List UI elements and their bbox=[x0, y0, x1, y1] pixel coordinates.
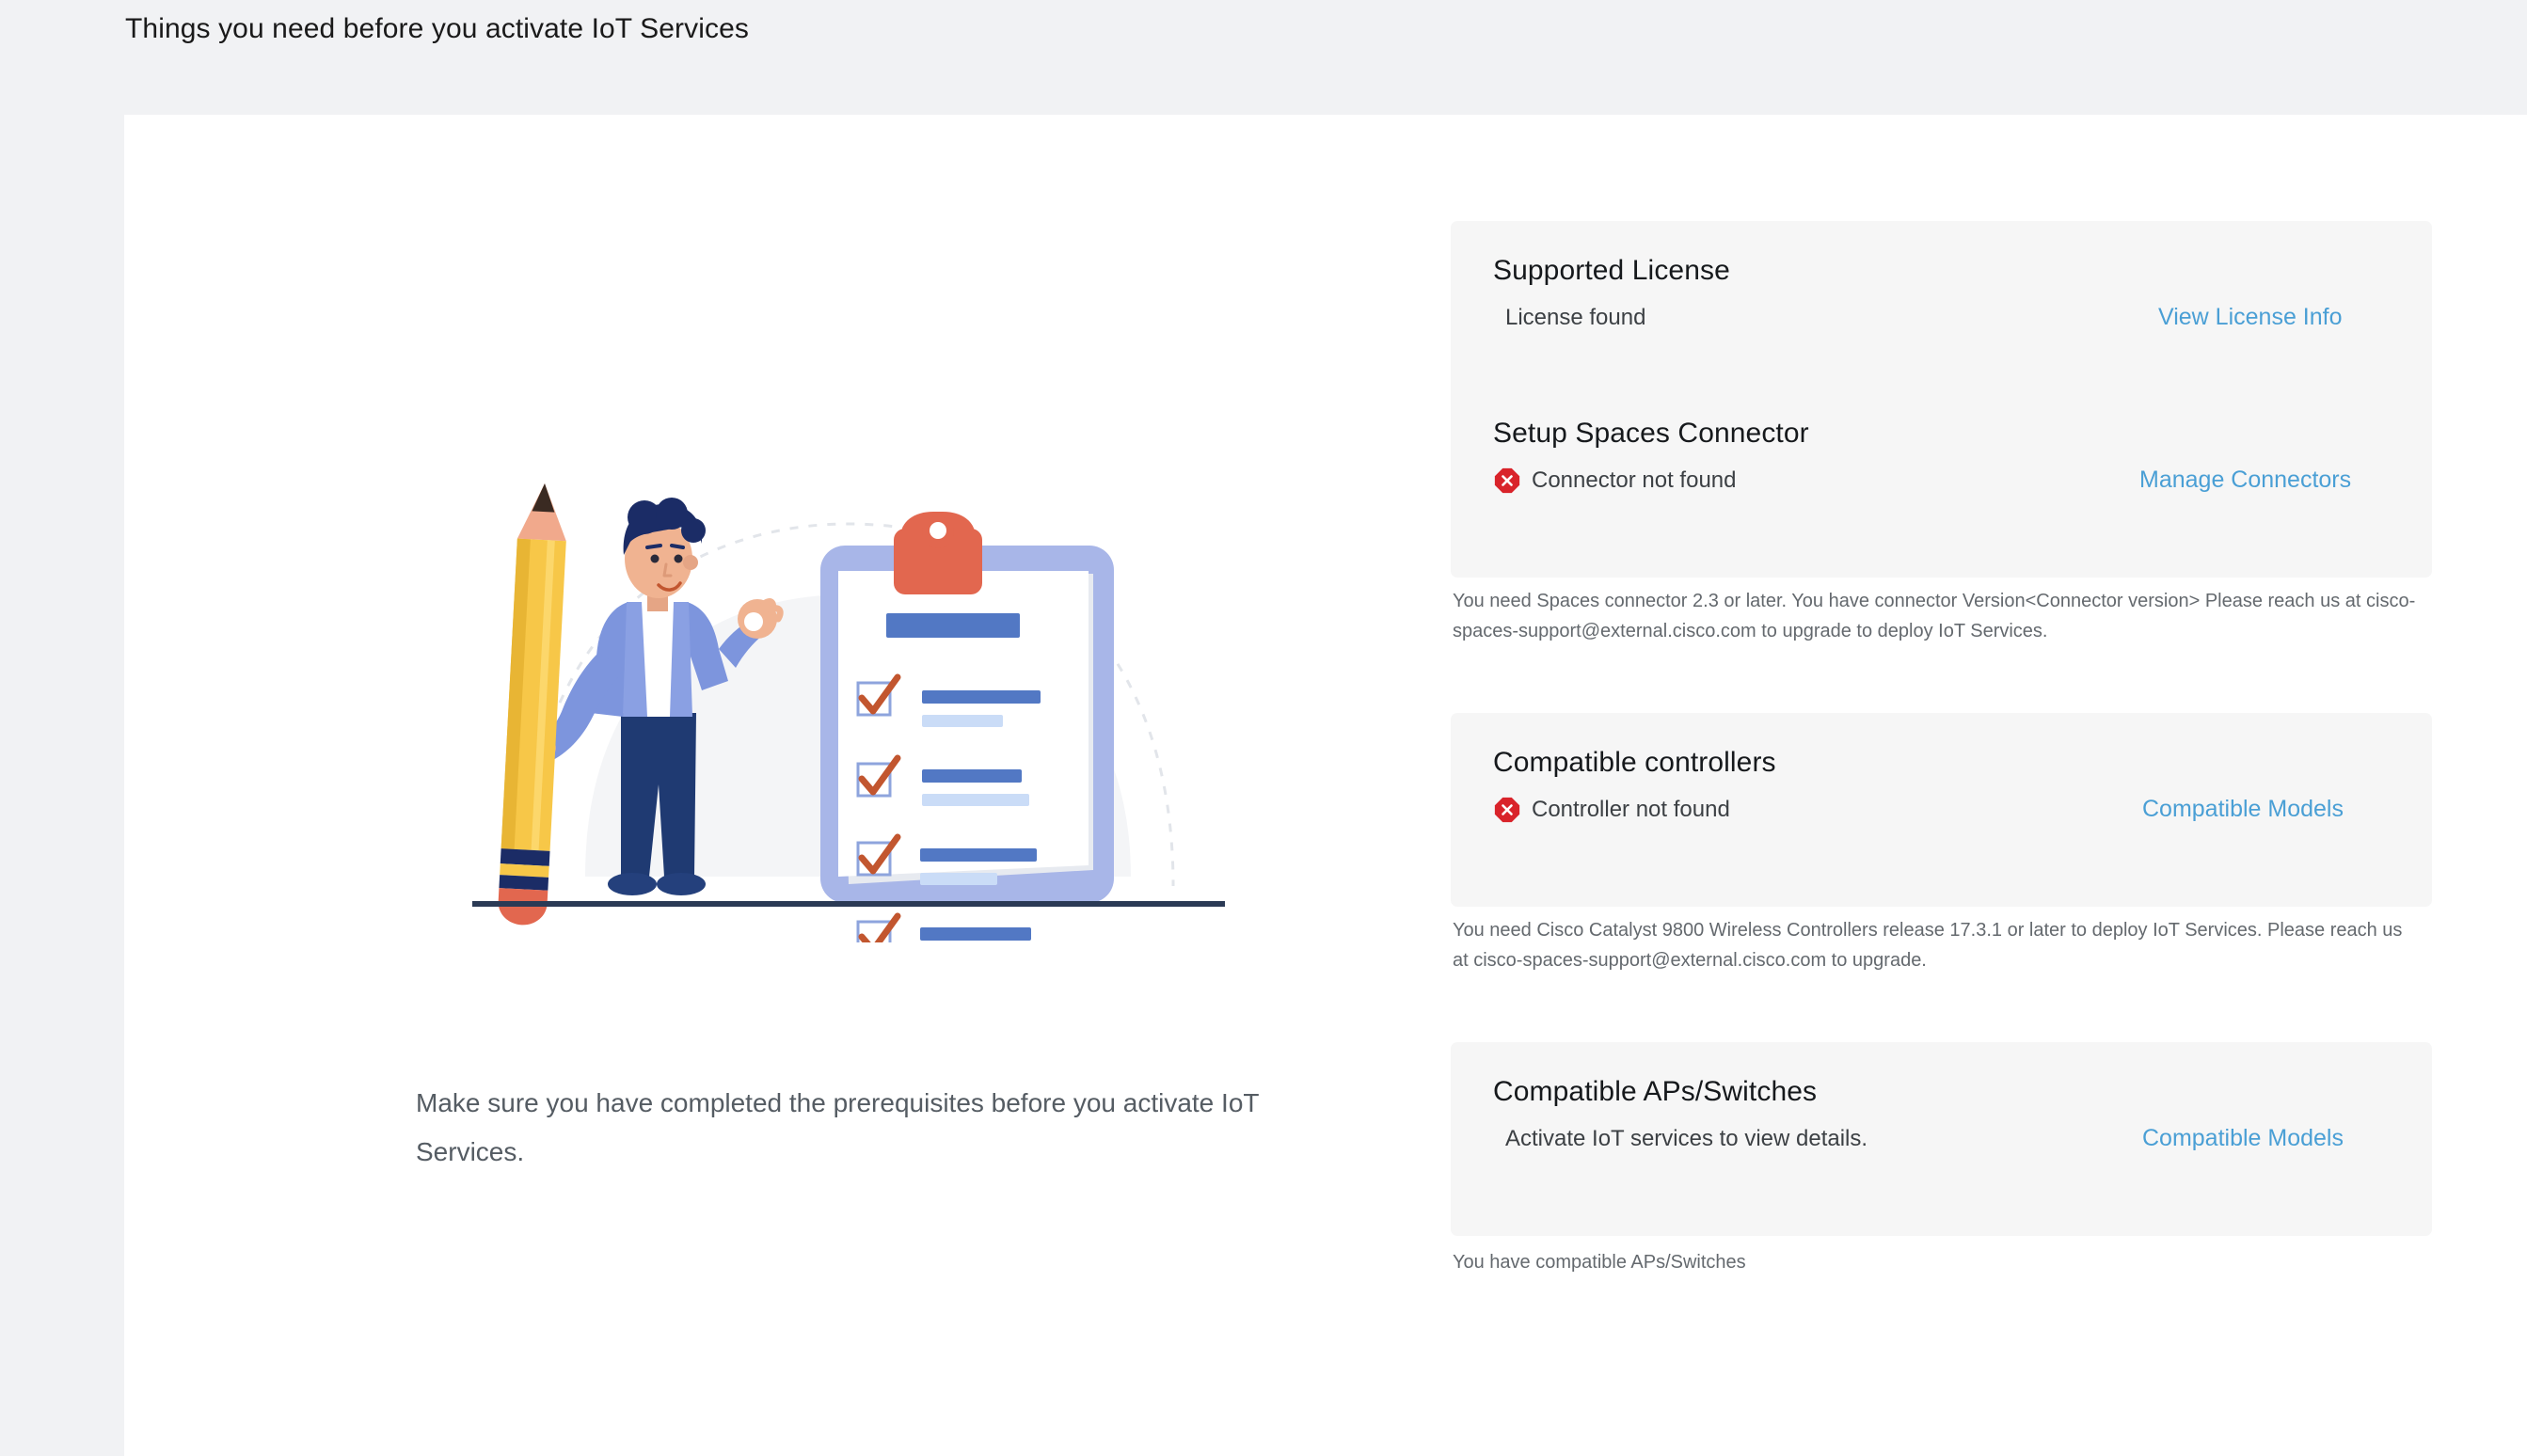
card-title: Compatible controllers bbox=[1493, 747, 1776, 779]
card-status-row: Connector not found bbox=[1493, 465, 1737, 497]
card-status-text: Connector not found bbox=[1532, 467, 1737, 494]
manage-connectors-link[interactable]: Manage Connectors bbox=[2139, 467, 2351, 494]
illustration-column: Make sure you have completed the prerequ… bbox=[124, 115, 1441, 1243]
requirement-block-compatible-aps-switches: Compatible APs/Switches Activate IoT ser… bbox=[1451, 1042, 2432, 1236]
requirement-card: Setup Spaces Connector Connector not fou… bbox=[1451, 384, 2432, 578]
card-note: You need Spaces connector 2.3 or later. … bbox=[1453, 586, 2422, 646]
compatible-models-link-aps[interactable]: Compatible Models bbox=[2142, 1125, 2344, 1152]
content-panel: Make sure you have completed the prerequ… bbox=[124, 115, 2527, 1456]
card-status-row: Controller not found bbox=[1493, 794, 1730, 826]
card-title: Setup Spaces Connector bbox=[1493, 418, 1809, 450]
checklist-illustration-svg bbox=[472, 435, 1225, 942]
checklist-person-illustration bbox=[472, 435, 1225, 942]
compatible-models-link-controllers[interactable]: Compatible Models bbox=[2142, 796, 2344, 823]
card-note: You need Cisco Catalyst 9800 Wireless Co… bbox=[1453, 915, 2422, 975]
requirement-block-setup-spaces-connector: Setup Spaces Connector Connector not fou… bbox=[1451, 384, 2432, 578]
error-octagon-icon bbox=[1493, 467, 1521, 495]
card-status-text: License found bbox=[1505, 305, 1645, 331]
error-octagon-icon bbox=[1493, 796, 1521, 824]
card-title: Supported License bbox=[1493, 255, 1730, 287]
page-header: Things you need before you activate IoT … bbox=[0, 0, 2527, 115]
card-status-text: Activate IoT services to view details. bbox=[1505, 1126, 1867, 1152]
view-license-info-link[interactable]: View License Info bbox=[2158, 304, 2343, 331]
card-title: Compatible APs/Switches bbox=[1493, 1076, 1817, 1108]
card-status-row: License found bbox=[1505, 302, 1645, 334]
page-title: Things you need before you activate IoT … bbox=[125, 13, 749, 45]
requirement-block-compatible-controllers: Compatible controllers Controller not fo… bbox=[1451, 713, 2432, 907]
card-note: You have compatible APs/Switches bbox=[1453, 1247, 2422, 1277]
requirement-card: Compatible APs/Switches Activate IoT ser… bbox=[1451, 1042, 2432, 1236]
card-status-text: Controller not found bbox=[1532, 797, 1730, 823]
card-status-row: Activate IoT services to view details. bbox=[1505, 1123, 1867, 1155]
requirement-card: Compatible controllers Controller not fo… bbox=[1451, 713, 2432, 907]
illustration-caption: Make sure you have completed the prerequ… bbox=[416, 1079, 1263, 1177]
